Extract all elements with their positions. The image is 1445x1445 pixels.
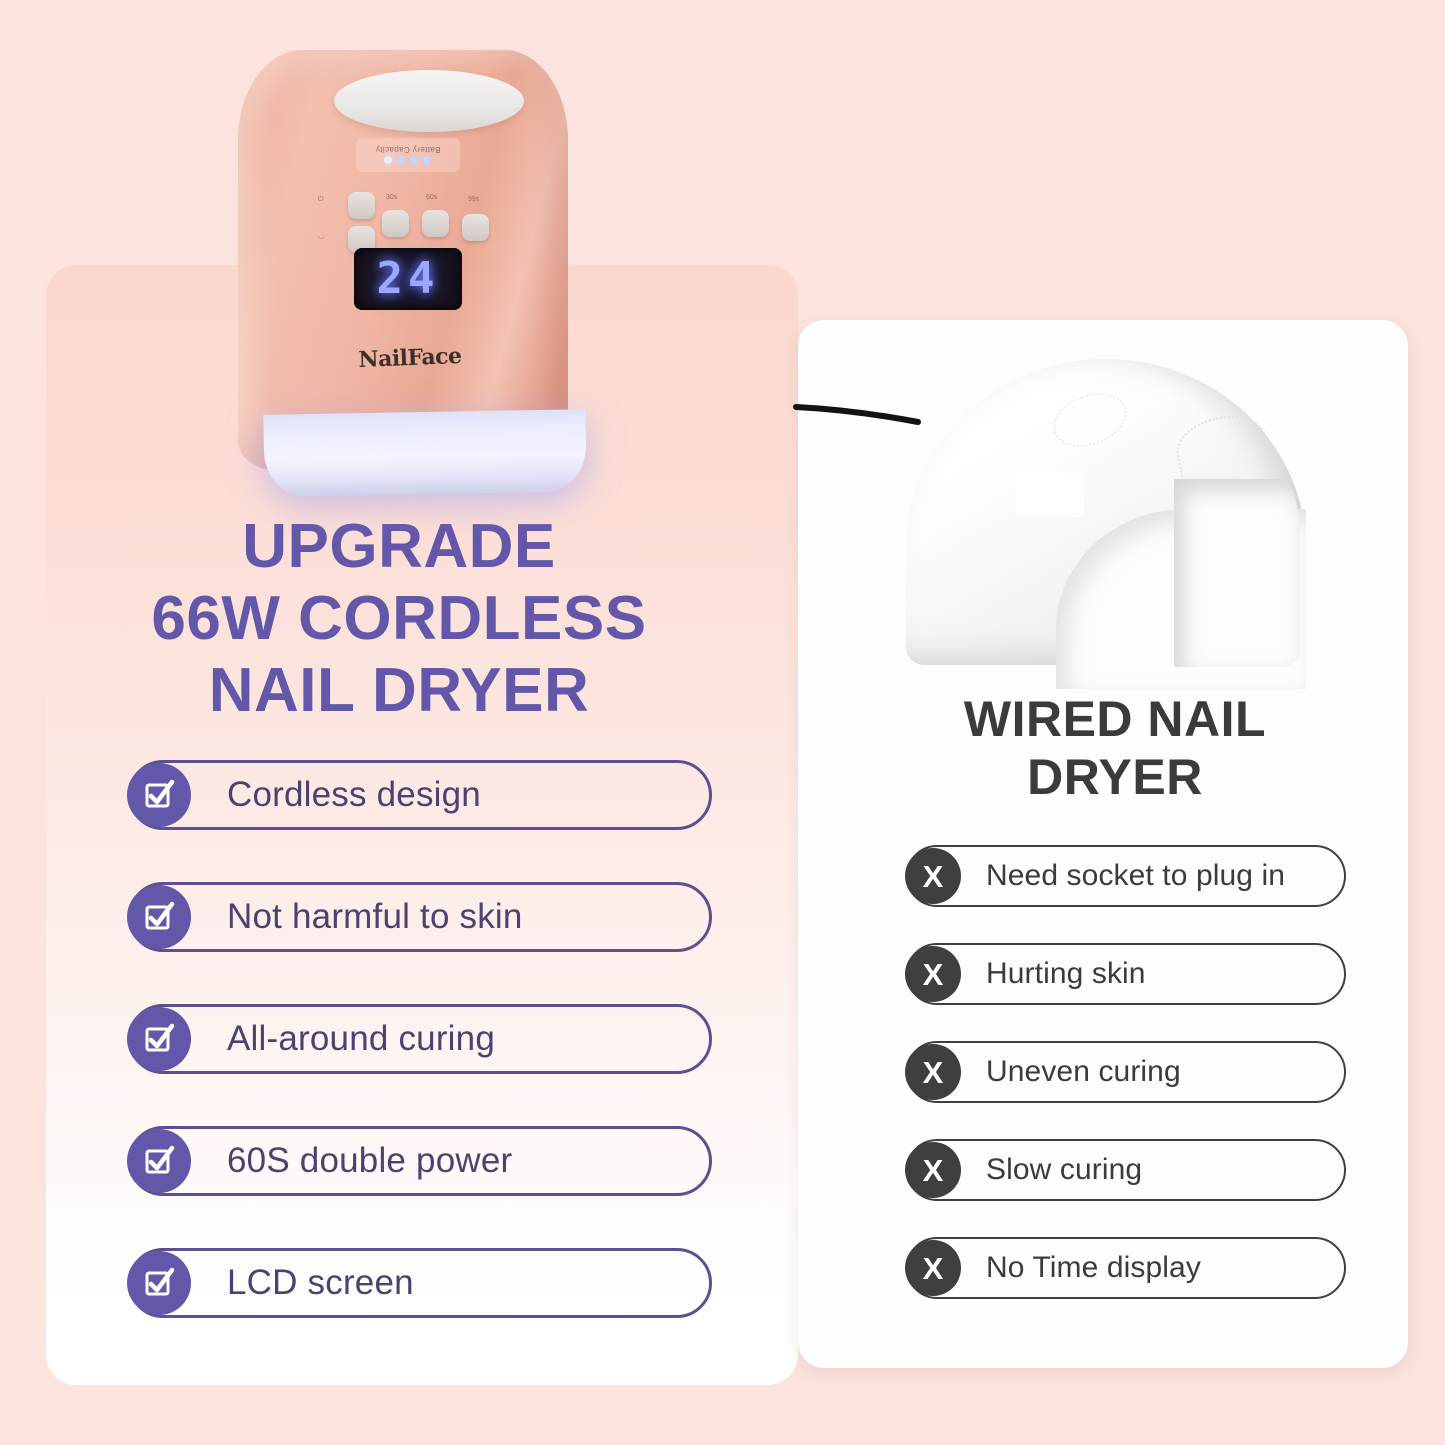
power-button[interactable] bbox=[348, 192, 375, 219]
drawback-label: Uneven curing bbox=[986, 1055, 1181, 1089]
feature-item[interactable]: All-around curing bbox=[128, 1004, 712, 1074]
control-button-panel: ⏻ ◡ 30s 60s 99s bbox=[318, 192, 498, 254]
check-icon bbox=[127, 1129, 191, 1193]
lcd-display: 24 bbox=[354, 248, 462, 310]
drawback-label: Hurting skin bbox=[986, 957, 1146, 991]
feature-item[interactable]: Cordless design bbox=[128, 760, 712, 830]
drawback-label: No Time display bbox=[986, 1251, 1201, 1285]
feature-label: Not harmful to skin bbox=[227, 897, 523, 937]
check-icon bbox=[127, 1251, 191, 1315]
drawback-item[interactable]: X Hurting skin bbox=[906, 943, 1346, 1005]
lamp-body: Battery Capacity ⏻ ◡ 30s 60s 99s 24 Nail… bbox=[238, 50, 568, 470]
timer-label-30s: 30s bbox=[386, 194, 397, 201]
lamp-icon: ◡ bbox=[318, 232, 324, 240]
feature-label: All-around curing bbox=[227, 1019, 495, 1059]
battery-dot bbox=[424, 157, 432, 165]
feature-item[interactable]: LCD screen bbox=[128, 1248, 712, 1318]
drawback-item[interactable]: X Need socket to plug in bbox=[906, 845, 1346, 907]
timer-button-60s[interactable] bbox=[422, 210, 449, 237]
cordless-nail-dryer-image: Battery Capacity ⏻ ◡ 30s 60s 99s 24 Nail… bbox=[216, 22, 588, 492]
lamp-top-cap bbox=[334, 70, 524, 132]
drawback-item[interactable]: X Uneven curing bbox=[906, 1041, 1346, 1103]
cordless-feature-list: Cordless design Not harmful to skin All-… bbox=[128, 760, 712, 1318]
battery-dot bbox=[411, 157, 419, 165]
wired-headline: WIRED NAIL DRYER bbox=[880, 690, 1350, 806]
brand-logo: NailFace bbox=[330, 342, 491, 374]
highlight-reflection bbox=[1016, 469, 1062, 517]
feature-label: 60S double power bbox=[227, 1141, 512, 1181]
check-icon bbox=[127, 885, 191, 949]
comparison-infographic: Battery Capacity ⏻ ◡ 30s 60s 99s 24 Nail… bbox=[0, 0, 1445, 1445]
vent-holes-icon bbox=[1171, 408, 1273, 486]
timer-label-99s: 99s bbox=[468, 196, 479, 203]
lamp-right-leg bbox=[1174, 479, 1300, 667]
x-icon: X bbox=[905, 946, 961, 1002]
check-icon bbox=[127, 1007, 191, 1071]
battery-dot bbox=[398, 157, 406, 165]
battery-dot bbox=[385, 157, 393, 165]
vent-holes-icon bbox=[1046, 384, 1135, 457]
drawback-label: Slow curing bbox=[986, 1153, 1142, 1187]
power-cord bbox=[796, 405, 918, 421]
drawback-label: Need socket to plug in bbox=[986, 859, 1285, 893]
x-icon: X bbox=[905, 848, 961, 904]
wired-nail-dryer-image bbox=[856, 335, 1326, 665]
timer-button-30s[interactable] bbox=[382, 210, 409, 237]
feature-item[interactable]: Not harmful to skin bbox=[128, 882, 712, 952]
drawback-item[interactable]: X No Time display bbox=[906, 1237, 1346, 1299]
timer-button-99s[interactable] bbox=[462, 214, 489, 241]
x-icon: X bbox=[905, 1240, 961, 1296]
x-icon: X bbox=[905, 1044, 961, 1100]
check-icon bbox=[127, 763, 191, 827]
lcd-timer-value: 24 bbox=[377, 257, 440, 301]
feature-label: Cordless design bbox=[227, 775, 481, 815]
timer-label-60s: 60s bbox=[426, 194, 437, 201]
wired-lamp-dome bbox=[906, 359, 1306, 665]
battery-capacity-label: Battery Capacity bbox=[375, 146, 440, 155]
x-icon: X bbox=[905, 1142, 961, 1198]
feature-item[interactable]: 60S double power bbox=[128, 1126, 712, 1196]
battery-led-dots bbox=[385, 157, 432, 165]
wired-drawback-list: X Need socket to plug in X Hurting skin … bbox=[906, 845, 1346, 1299]
battery-capacity-indicator: Battery Capacity bbox=[356, 138, 460, 172]
uv-light-opening bbox=[263, 409, 586, 497]
drawback-item[interactable]: X Slow curing bbox=[906, 1139, 1346, 1201]
feature-label: LCD screen bbox=[227, 1263, 414, 1303]
cordless-headline: UPGRADE 66W CORDLESS NAIL DRYER bbox=[0, 511, 798, 727]
power-icon: ⏻ bbox=[318, 196, 324, 204]
